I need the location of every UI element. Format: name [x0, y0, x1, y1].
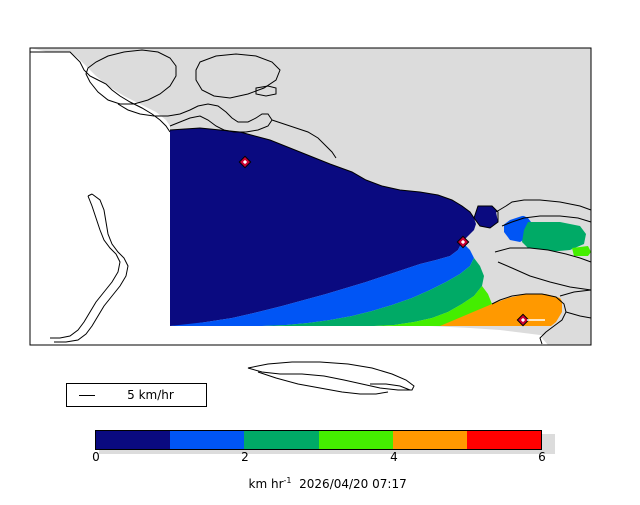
colorbar-band-3 — [319, 431, 393, 449]
wind-vector-legend: 5 km/hr — [66, 383, 207, 407]
map-canvas[interactable] — [0, 0, 640, 420]
map-svg — [0, 0, 640, 420]
colorbar-timestamp-spacer — [292, 477, 300, 491]
colorbar-timestamp: 2026/04/20 07:17 — [299, 477, 407, 491]
colorbar-band-0 — [96, 431, 170, 449]
colorbar-caption: km hr-1 2026/04/20 07:17 — [0, 462, 640, 505]
wind-legend-label: 5 km/hr — [67, 388, 208, 402]
colorbar-band-1 — [170, 431, 244, 449]
colorbar-band-4 — [393, 431, 467, 449]
colorbar-band-5 — [467, 431, 541, 449]
colorbar: 0 2 4 6 — [95, 430, 551, 450]
colorbar-bands — [95, 430, 542, 450]
colorbar-unit: km hr — [249, 477, 284, 491]
colorbar-band-2 — [244, 431, 318, 449]
weather-map-page: NanaimoWeather.ca —— Wind Speed — [0, 0, 640, 480]
colorbar-unit-exponent: -1 — [284, 476, 292, 485]
